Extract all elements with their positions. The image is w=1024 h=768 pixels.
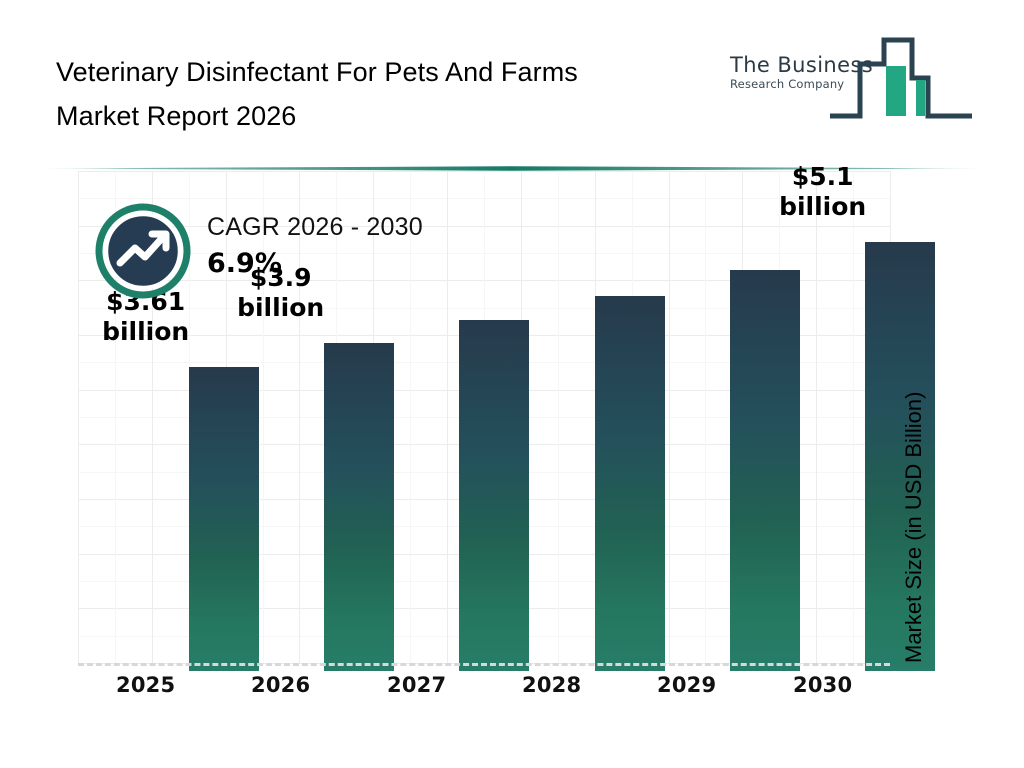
x-axis-tick-labels: 202520262027202820292030 (78, 673, 890, 717)
cagr-period-label: CAGR 2026 - 2030 (207, 210, 423, 244)
bar-2025 (189, 367, 259, 671)
value-label-amount: $5.1 (792, 162, 854, 191)
page-title-line-2: Market Report 2026 (56, 94, 716, 138)
cagr-text-block: CAGR 2026 - 2030 6.9% (207, 210, 423, 284)
bar-2026 (324, 343, 394, 671)
cagr-callout: CAGR 2026 - 2030 6.9% (95, 198, 515, 318)
x-tick-2030: 2030 (755, 673, 890, 697)
x-tick-2026: 2026 (213, 673, 348, 697)
bar-2028 (595, 296, 665, 671)
value-label-2030: $5.1billion (755, 162, 890, 222)
chart-page: Veterinary Disinfectant For Pets And Far… (0, 0, 1024, 768)
x-tick-2025: 2025 (78, 673, 213, 697)
y-axis-title-text: Market Size (in USD Billion) (901, 283, 927, 663)
bar-2029 (730, 270, 800, 671)
trending-up-arrow-icon (95, 203, 191, 299)
page-header: Veterinary Disinfectant For Pets And Far… (0, 0, 1024, 160)
x-tick-2028: 2028 (484, 673, 619, 697)
bar-2027 (459, 320, 529, 671)
cagr-value: 6.9% (207, 244, 423, 284)
company-logo: The Business Research Company (724, 32, 974, 124)
x-tick-2027: 2027 (349, 673, 484, 697)
x-tick-2029: 2029 (619, 673, 754, 697)
page-title: Veterinary Disinfectant For Pets And Far… (56, 50, 716, 138)
axis-baseline (78, 663, 890, 666)
value-label-unit: billion (755, 192, 890, 222)
y-axis-title: Market Size (in USD Billion) (893, 0, 927, 283)
value-label-unit: billion (78, 317, 213, 347)
page-title-line-1: Veterinary Disinfectant For Pets And Far… (56, 50, 716, 94)
gridline-vertical (78, 171, 79, 663)
